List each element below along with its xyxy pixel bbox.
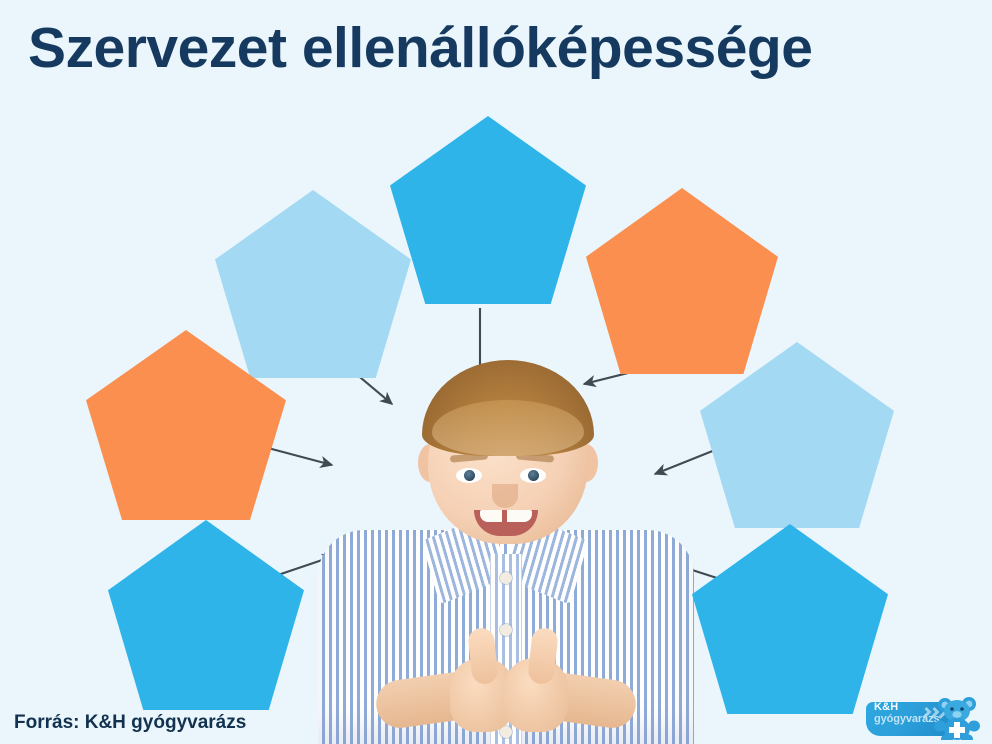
factor-label-genetika: genetika xyxy=(145,600,267,629)
factor-label-mozgas: mozgás xyxy=(739,420,856,450)
factor-label-pszich: pszichés állapot xyxy=(423,180,553,240)
center-boy-photo xyxy=(318,358,694,744)
factor-pentagon-pszich[interactable]: pszichés állapot xyxy=(390,116,586,304)
kh-gyogyvarazs-logo[interactable]: K&H gyógyvarázs xyxy=(866,696,984,740)
shirt-button xyxy=(500,624,512,636)
source-credit: Forrás: K&H gyógyvarázs xyxy=(14,712,246,734)
factor-pentagon-taplalkozas[interactable]: táplálkozás xyxy=(215,190,411,378)
boy-nose xyxy=(492,484,518,508)
factor-label-alvas: alvás xyxy=(640,266,724,296)
teddy-bear-icon xyxy=(932,696,984,740)
factor-label-taplalkozas: táplálkozás xyxy=(235,269,391,298)
factor-pentagon-friss-levego[interactable]: friss levegő xyxy=(692,524,888,714)
factor-label-friss-levego: friss levegő xyxy=(739,589,841,649)
logo-brand-kh: K&H xyxy=(874,702,940,714)
shirt-button xyxy=(500,572,512,584)
boy-teeth xyxy=(480,510,532,522)
boy-eye-right xyxy=(520,468,546,483)
infographic-canvas: Szervezet ellenállóképessége xyxy=(0,0,992,744)
logo-wordmark: K&H gyógyvarázs xyxy=(874,702,940,725)
factor-pentagon-alvas[interactable]: alvás xyxy=(586,188,778,374)
factor-pentagon-genetika[interactable]: genetika xyxy=(108,520,304,710)
boy-eye-left xyxy=(456,468,482,483)
boy-hair xyxy=(422,360,594,456)
page-title: Szervezet ellenállóképessége xyxy=(28,16,812,82)
logo-brand-gyogyvarazs: gyógyvarázs xyxy=(874,714,940,726)
factor-label-szerzett-immunitas: szerzett immunitás xyxy=(115,397,256,453)
